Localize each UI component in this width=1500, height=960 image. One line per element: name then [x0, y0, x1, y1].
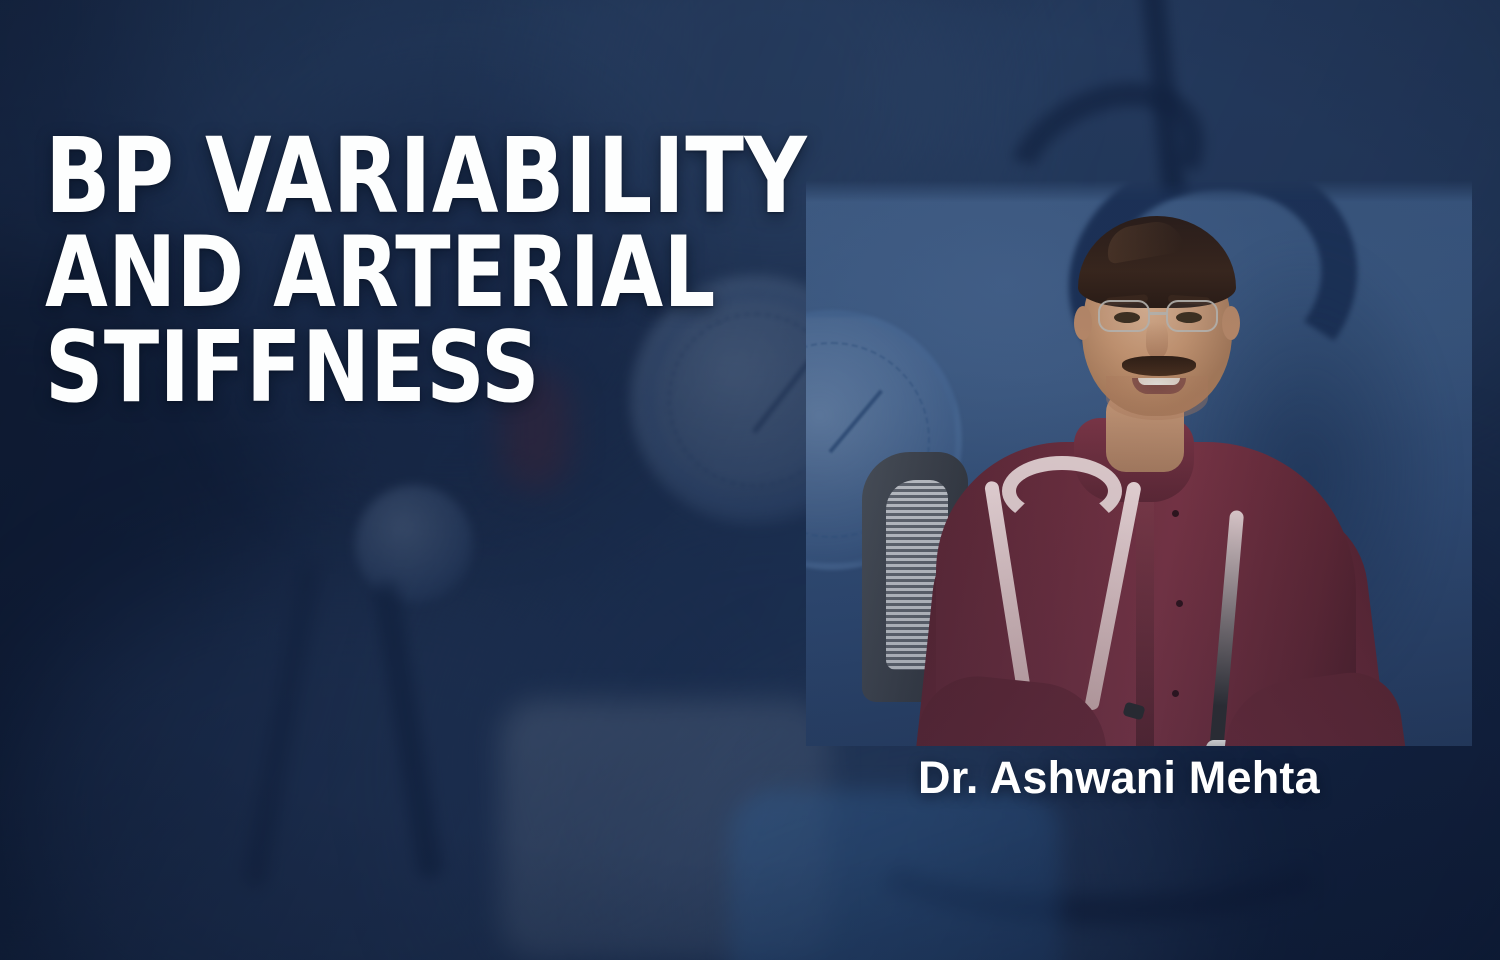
presenter-name: Dr. Ashwani Mehta	[918, 752, 1320, 804]
video-thumbnail-banner: BP VARIABILITY AND ARTERIAL STIFFNESS Dr…	[0, 0, 1500, 960]
presenter-moustache	[1122, 356, 1196, 376]
shirt-button	[1172, 690, 1179, 697]
eyeglass-lens-right	[1166, 300, 1218, 332]
title-line-1: BP VARIABILITY	[45, 126, 807, 226]
presenter-chin-shading	[1106, 376, 1208, 420]
presenter-nose	[1146, 322, 1168, 358]
stethoscope-neck-loop	[1002, 456, 1122, 526]
shirt-button	[1172, 510, 1179, 517]
presenter-ear-right	[1222, 306, 1240, 340]
shirt-button	[1176, 600, 1183, 607]
title-line-3: STIFFNESS	[45, 321, 807, 416]
presenter-ear-left	[1074, 306, 1092, 340]
title-line-2: AND ARTERIAL	[45, 226, 807, 321]
presenter-photo	[806, 180, 1472, 746]
eyeglass-lens-left	[1098, 300, 1150, 332]
eyeglass-bridge	[1150, 312, 1166, 315]
page-title: BP VARIABILITY AND ARTERIAL STIFFNESS	[45, 126, 807, 415]
